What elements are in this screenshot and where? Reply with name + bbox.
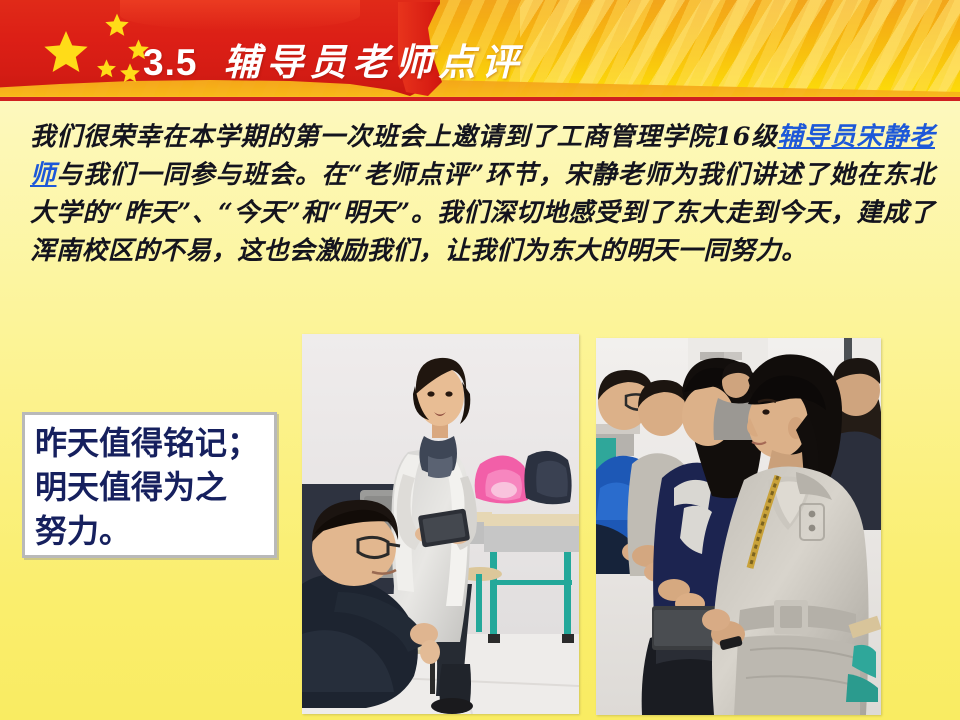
- body-paragraph: 我们很荣幸在本学期的第一次班会上邀请到了工商管理学院16级辅导员宋静老师与我们一…: [30, 118, 935, 270]
- quote-text: 昨天值得铭记； 明天值得为之 努力。: [35, 421, 271, 553]
- paragraph-part-1: 我们很荣幸在本学期的第一次班会上邀请到了工商管理学院16级: [30, 122, 777, 152]
- section-number: 3.5: [143, 42, 197, 83]
- small-star-4-icon: [96, 58, 117, 79]
- quote-box: 昨天值得铭记； 明天值得为之 努力。: [22, 412, 277, 558]
- photo-teacher-standing-image: [302, 334, 579, 714]
- page-title: 3.5辅导员老师点评: [143, 32, 524, 86]
- big-star-icon: [42, 28, 90, 76]
- photo-students-listening-image: [596, 338, 881, 715]
- small-star-1-icon: [104, 12, 130, 38]
- quote-line-3: 努力。: [35, 509, 271, 553]
- paragraph-part-2: 与我们一同参与班会。在“老师点评”环节，宋静老师为我们讲述了她在东北大学的“昨天…: [30, 160, 935, 266]
- header-divider-cream: [0, 101, 960, 102]
- flag-wave-highlight: [120, 0, 360, 30]
- photo-students-listening: [596, 338, 881, 715]
- quote-line-2: 明天值得为之: [35, 465, 271, 509]
- header-ray-stripes-secondary: [520, 0, 960, 96]
- photo-teacher-standing: [302, 334, 579, 714]
- section-title-text: 辅导员老师点评: [223, 42, 524, 83]
- slide-header: 3.5辅导员老师点评: [0, 0, 960, 102]
- slide-canvas: 3.5辅导员老师点评 我们很荣幸在本学期的第一次班会上邀请到了工商管理学院16级…: [0, 0, 960, 720]
- quote-line-1: 昨天值得铭记；: [35, 421, 271, 465]
- small-star-3-icon: [119, 62, 141, 84]
